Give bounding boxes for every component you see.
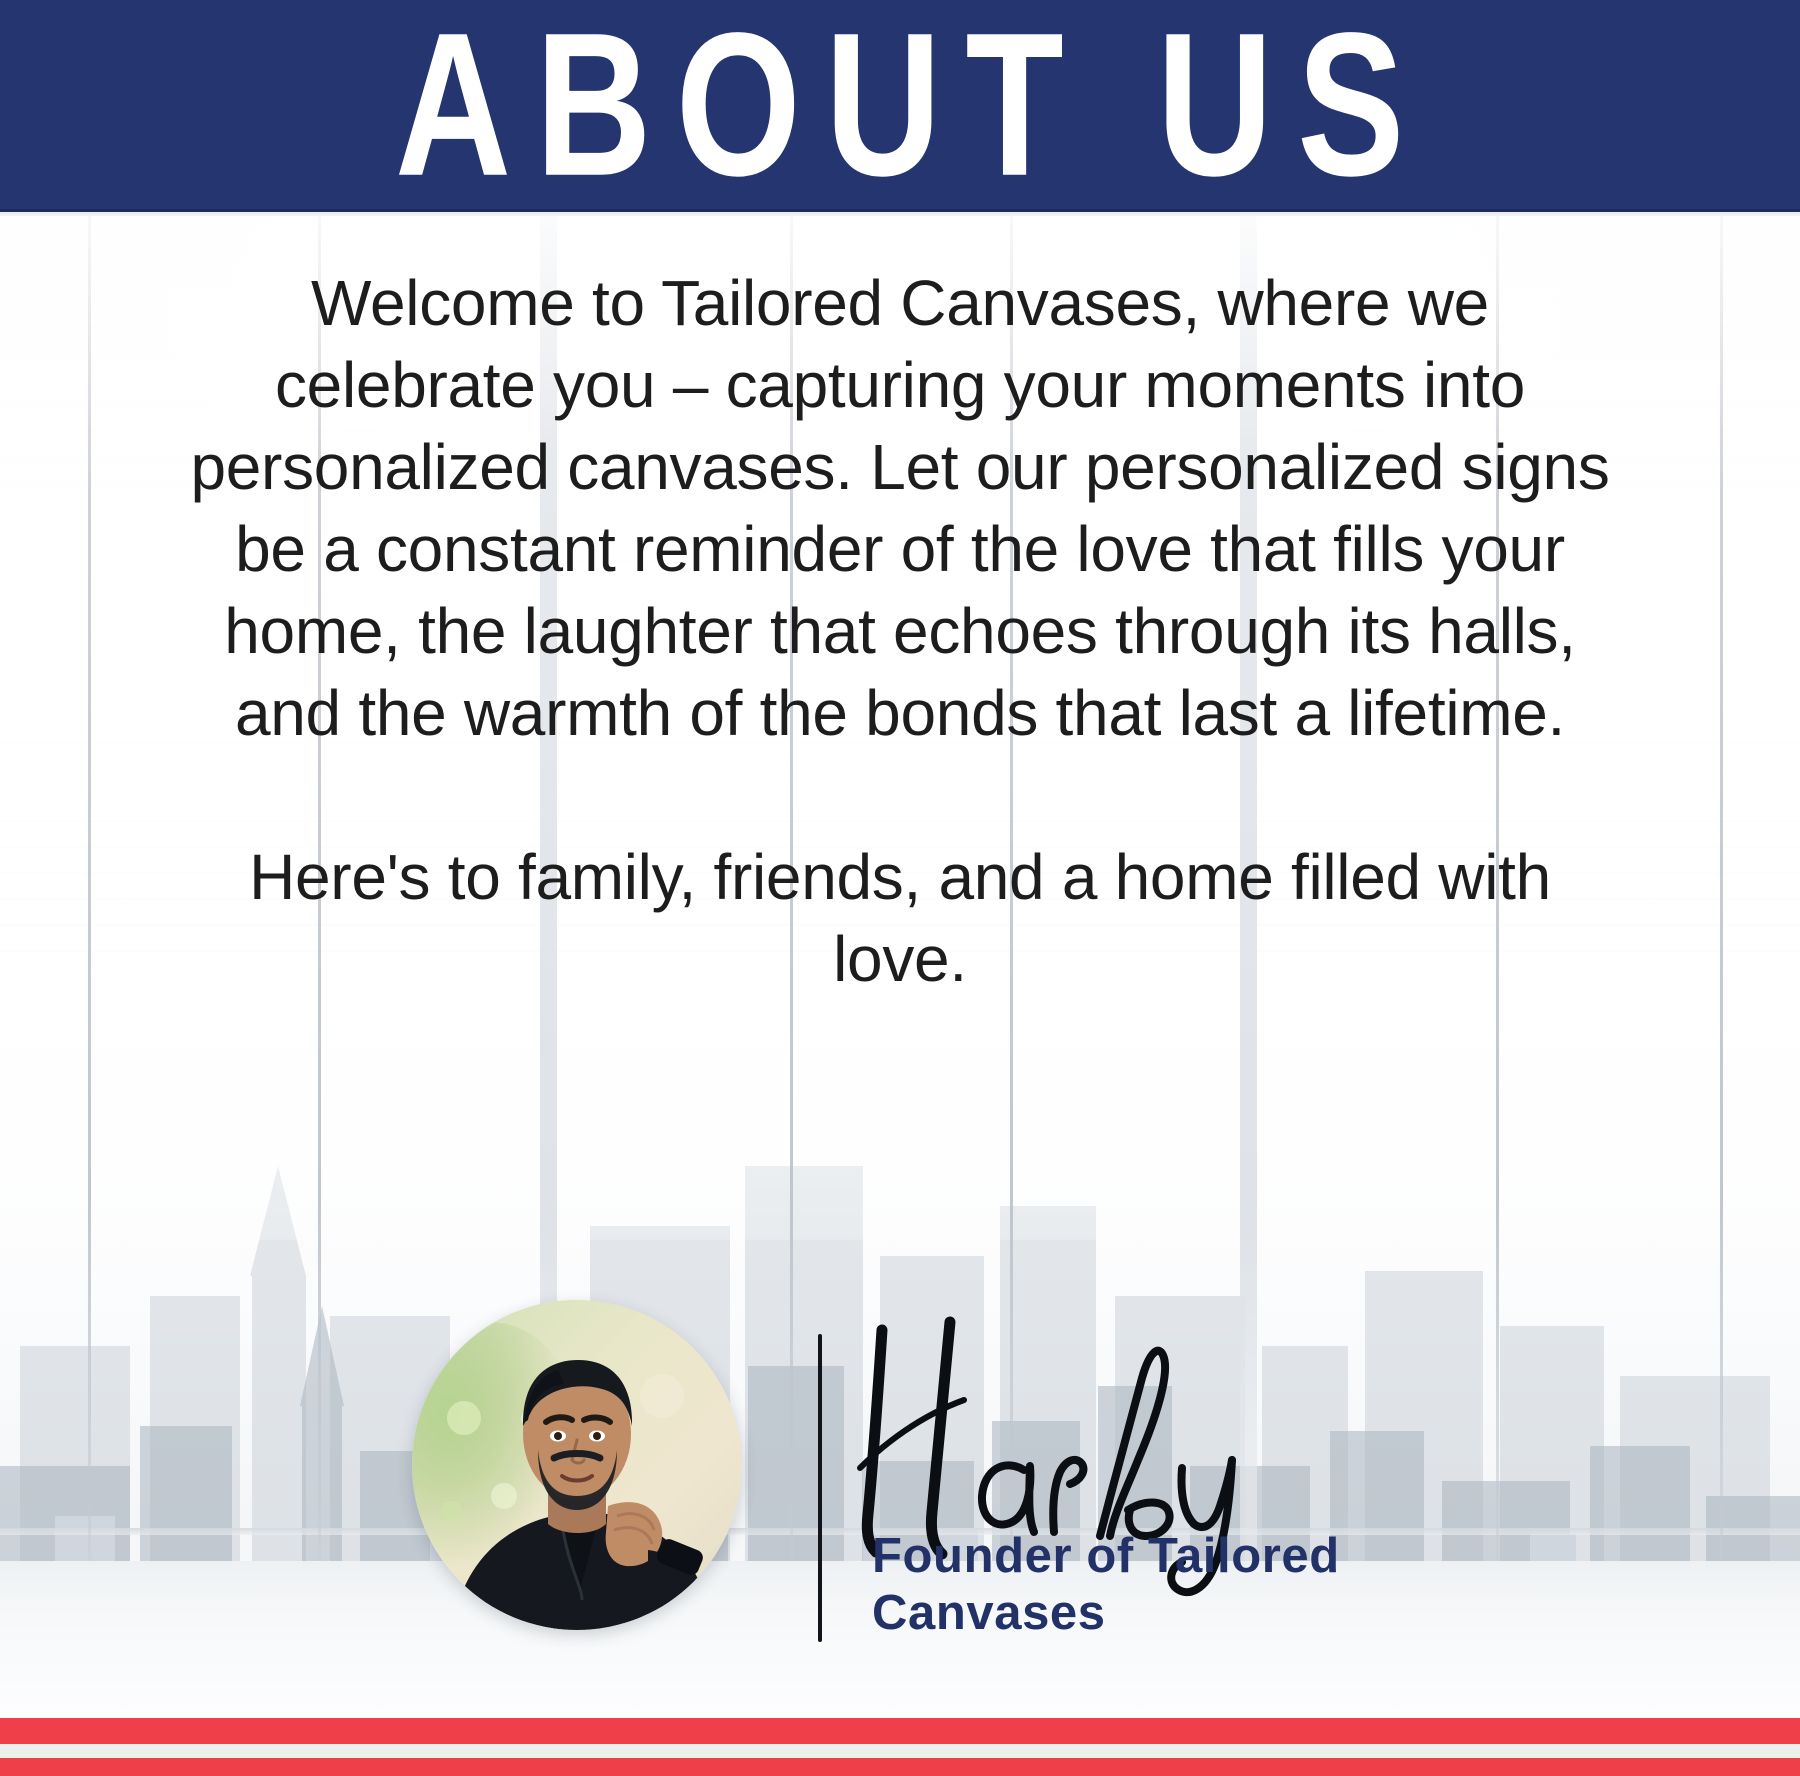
- header-band: ABOUT US: [0, 0, 1800, 209]
- avatar: [412, 1300, 742, 1630]
- founder-title-line-2: Canvases: [872, 1585, 1492, 1642]
- window-mullion: [1720, 170, 1723, 1640]
- signature-divider: [818, 1334, 822, 1642]
- header-divider: [0, 209, 1800, 216]
- bottom-stripe-primary: [0, 1718, 1800, 1744]
- page-title: ABOUT US: [371, 2, 1429, 206]
- founder-title-line-1: Founder of Tailored: [872, 1528, 1492, 1585]
- about-us-poster: ABOUT US Welcome to Tailored Canvases, w…: [0, 0, 1800, 1776]
- window-mullion: [88, 170, 91, 1640]
- bottom-stripe-gap: [0, 1744, 1800, 1758]
- about-paragraph-1: Welcome to Tailored Canvases, where we c…: [190, 262, 1610, 754]
- about-paragraph-2: Here's to family, friends, and a home fi…: [190, 836, 1610, 1000]
- founder-title: Founder of Tailored Canvases: [872, 1528, 1492, 1642]
- bottom-stripe-secondary: [0, 1758, 1800, 1776]
- about-copy: Welcome to Tailored Canvases, where we c…: [190, 262, 1610, 1000]
- paragraph-spacer: [190, 754, 1610, 836]
- founder-portrait-icon: [412, 1300, 742, 1630]
